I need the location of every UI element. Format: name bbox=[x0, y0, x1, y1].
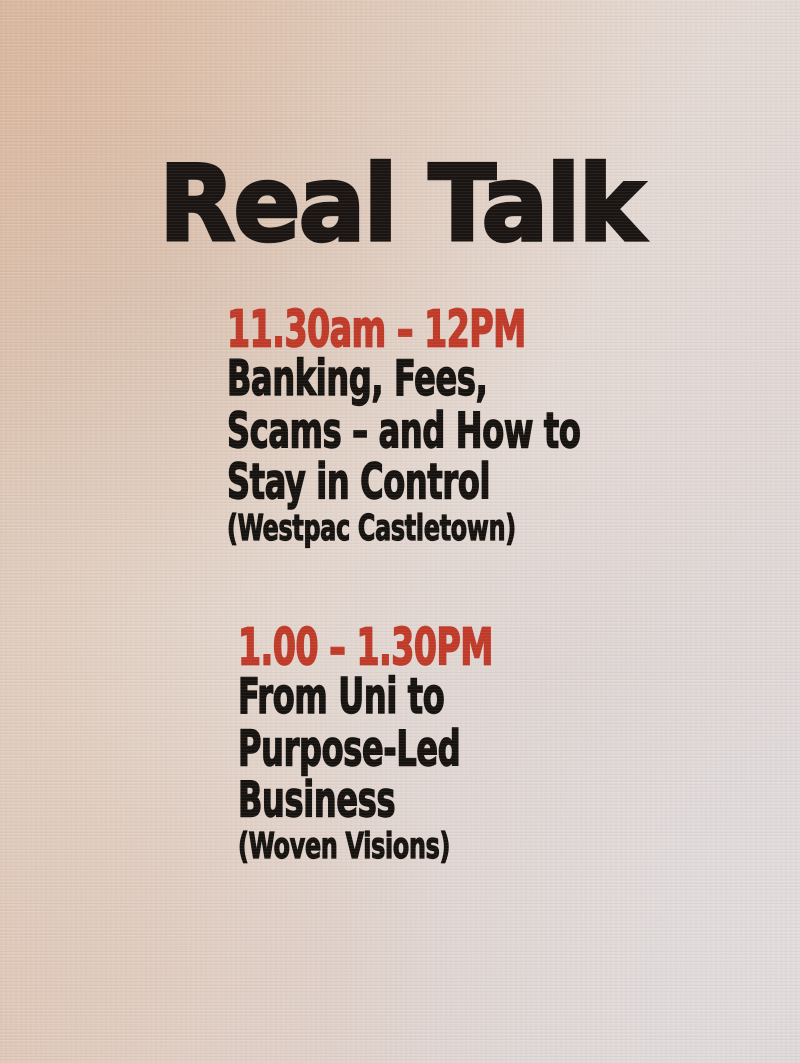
page-title: Real Talk bbox=[0, 152, 800, 256]
session-block-1: 11.30am – 12PM Banking, Fees, Scams – an… bbox=[227, 306, 675, 546]
session-1-time: 11.30am – 12PM bbox=[227, 304, 585, 356]
session-2-description: From Uni to Purpose-Led Business bbox=[238, 670, 490, 826]
session-2-venue: (Woven Visions) bbox=[238, 827, 493, 865]
session-1-description: Banking, Fees, Scams – and How to Stay i… bbox=[227, 352, 581, 508]
poster-content: Real Talk 11.30am – 12PM Banking, Fees, … bbox=[0, 0, 800, 1063]
session-2-time: 1.00 – 1.30PM bbox=[238, 622, 493, 674]
session-block-2: 1.00 – 1.30PM From Uni to Purpose-Led Bu… bbox=[238, 624, 557, 864]
poster-photograph: Real Talk 11.30am – 12PM Banking, Fees, … bbox=[0, 0, 800, 1063]
session-1-venue: (Westpac Castletown) bbox=[227, 509, 585, 547]
